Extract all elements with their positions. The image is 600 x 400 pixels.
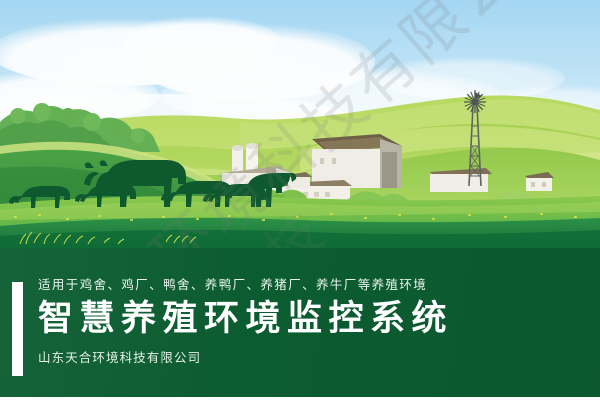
- company-name: 山东天合环境科技有限公司: [38, 347, 583, 366]
- barn-door: [382, 152, 397, 188]
- barn: [312, 134, 402, 188]
- poster-root: 环境科技有限公司 东天合环境科技 适用于鸡舍、鸡厂、鸭舍、养鸭厂、养猪厂、养牛厂…: [0, 0, 600, 400]
- accent-bar: [12, 282, 23, 376]
- farm-illustration: [0, 0, 600, 250]
- small-house: [430, 168, 492, 192]
- banner-title: 智慧养殖环境监控系统: [38, 298, 583, 340]
- banner-text-block: 适用于鸡舍、鸡厂、鸭舍、养鸭厂、养猪厂、养牛厂等养殖环境 智慧养殖环境监控系统 …: [38, 278, 583, 366]
- farm-scene-svg: [0, 0, 600, 250]
- banner-subtitle: 适用于鸡舍、鸡厂、鸭舍、养鸭厂、养猪厂、养牛厂等养殖环境: [38, 278, 583, 292]
